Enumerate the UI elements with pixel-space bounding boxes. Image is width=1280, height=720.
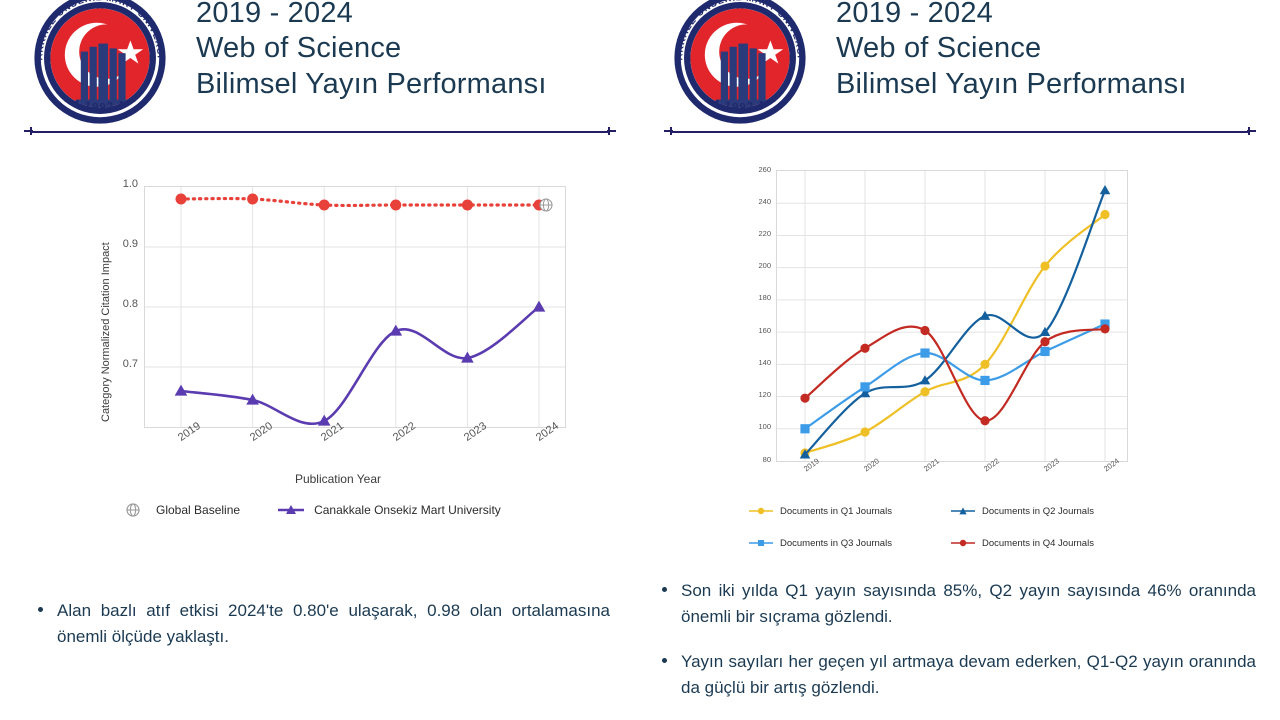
legend-marker-circle-icon (950, 537, 976, 549)
title-line-subject: Bilimsel Yayın Performansı (836, 67, 1187, 102)
cnci-chart: 1.00.90.80.7 201920202021202220232024 Ca… (88, 172, 588, 532)
cnci-chart-svg (145, 187, 565, 427)
title-line-years: 2019 - 2024 (836, 0, 1187, 31)
slide-root: ÇANAKKALE ONSEKİZ MART ÜNİVERSİTESİ • 19… (0, 0, 1280, 720)
legend-marker-triangle-icon (950, 505, 976, 517)
legend-label: Documents in Q2 Journals (982, 506, 1094, 517)
legend-item: Canakkale Onsekiz Mart University (276, 502, 501, 518)
legend-item: Documents in Q2 Journals (950, 505, 1148, 517)
right-header: ÇANAKKALE ONSEKİZ MART ÜNİVERSİTESİ • 19… (640, 0, 1280, 120)
left-header: ÇANAKKALE ONSEKİZ MART ÜNİVERSİTESİ • 19… (0, 0, 640, 120)
left-header-divider (20, 130, 620, 134)
y-tick-label: 260 (731, 165, 771, 174)
legend-label: Documents in Q4 Journals (982, 538, 1094, 549)
legend-marker-square-icon (748, 537, 774, 549)
bullet-text: Alan bazlı atıf etkisi 2024'te 0.80'e ul… (57, 598, 610, 651)
y-tick-label: 240 (731, 197, 771, 206)
university-logo-svg: ÇANAKKALE ONSEKİZ MART ÜNİVERSİTESİ • 19… (20, 0, 180, 138)
list-item: Son iki yılda Q1 yayın sayısında 85%, Q2… (654, 578, 1256, 631)
globe-icon (118, 502, 148, 518)
triangle-line-icon (276, 502, 306, 518)
university-logo: ÇANAKKALE ONSEKİZ MART ÜNİVERSİTESİ • 19… (660, 0, 820, 138)
right-header-divider (660, 130, 1260, 134)
title-line-source: Web of Science (836, 31, 1187, 66)
bullet-dot (662, 658, 667, 663)
title-line-years: 2019 - 2024 (196, 0, 547, 31)
university-logo: ÇANAKKALE ONSEKİZ MART ÜNİVERSİTESİ • 19… (20, 0, 180, 138)
globe-icon (540, 199, 552, 211)
university-logo-svg: ÇANAKKALE ONSEKİZ MART ÜNİVERSİTESİ • 19… (660, 0, 820, 138)
right-panel: ÇANAKKALE ONSEKİZ MART ÜNİVERSİTESİ • 19… (640, 0, 1280, 720)
y-tick-label: 200 (731, 261, 771, 270)
legend-label: Documents in Q3 Journals (780, 538, 892, 549)
list-item: Alan bazlı atıf etkisi 2024'te 0.80'e ul… (30, 598, 610, 651)
bullet-dot (38, 607, 43, 612)
title-line-subject: Bilimsel Yayın Performansı (196, 67, 547, 102)
legend-item: Documents in Q1 Journals (748, 505, 946, 517)
cnci-x-axis-title: Publication Year (88, 472, 588, 486)
cnci-y-axis-title: Category Normalized Citation Impact (100, 242, 112, 422)
legend-label: Canakkale Onsekiz Mart University (314, 503, 501, 517)
legend-marker-circle-icon (748, 505, 774, 517)
y-tick-label: 100 (731, 422, 771, 431)
y-tick-label: 180 (731, 293, 771, 302)
left-bullets: Alan bazlı atıf etkisi 2024'te 0.80'e ul… (30, 598, 610, 669)
y-tick-label: 140 (731, 358, 771, 367)
quartile-chart-svg (777, 171, 1127, 461)
legend-label: Documents in Q1 Journals (780, 506, 892, 517)
right-title-block: 2019 - 2024 Web of Science Bilimsel Yayı… (836, 0, 1187, 102)
left-panel: ÇANAKKALE ONSEKİZ MART ÜNİVERSİTESİ • 19… (0, 0, 640, 720)
y-tick-label: 160 (731, 326, 771, 335)
y-tick-label: 80 (731, 455, 771, 464)
y-tick-label: 120 (731, 390, 771, 399)
left-title-block: 2019 - 2024 Web of Science Bilimsel Yayı… (196, 0, 547, 102)
legend-item: Global Baseline (118, 502, 240, 518)
quartile-legend: Documents in Q1 JournalsDocuments in Q2 … (748, 505, 1148, 549)
legend-item: Documents in Q4 Journals (950, 537, 1148, 549)
bullet-text: Yayın sayıları her geçen yıl artmaya dev… (681, 649, 1256, 702)
bullet-text: Son iki yılda Q1 yayın sayısında 85%, Q2… (681, 578, 1256, 631)
legend-label: Global Baseline (156, 503, 240, 517)
cnci-legend: Global BaselineCanakkale Onsekiz Mart Un… (118, 502, 588, 518)
title-line-source: Web of Science (196, 31, 547, 66)
y-tick-label: 1.0 (98, 178, 138, 190)
bullet-dot (662, 587, 667, 592)
legend-item: Documents in Q3 Journals (748, 537, 946, 549)
list-item: Yayın sayıları her geçen yıl artmaya dev… (654, 649, 1256, 702)
quartile-chart: 26024022020018016014012010080 2019202020… (730, 160, 1150, 570)
y-tick-label: 220 (731, 229, 771, 238)
right-bullets: Son iki yılda Q1 yayın sayısında 85%, Q2… (654, 578, 1256, 719)
